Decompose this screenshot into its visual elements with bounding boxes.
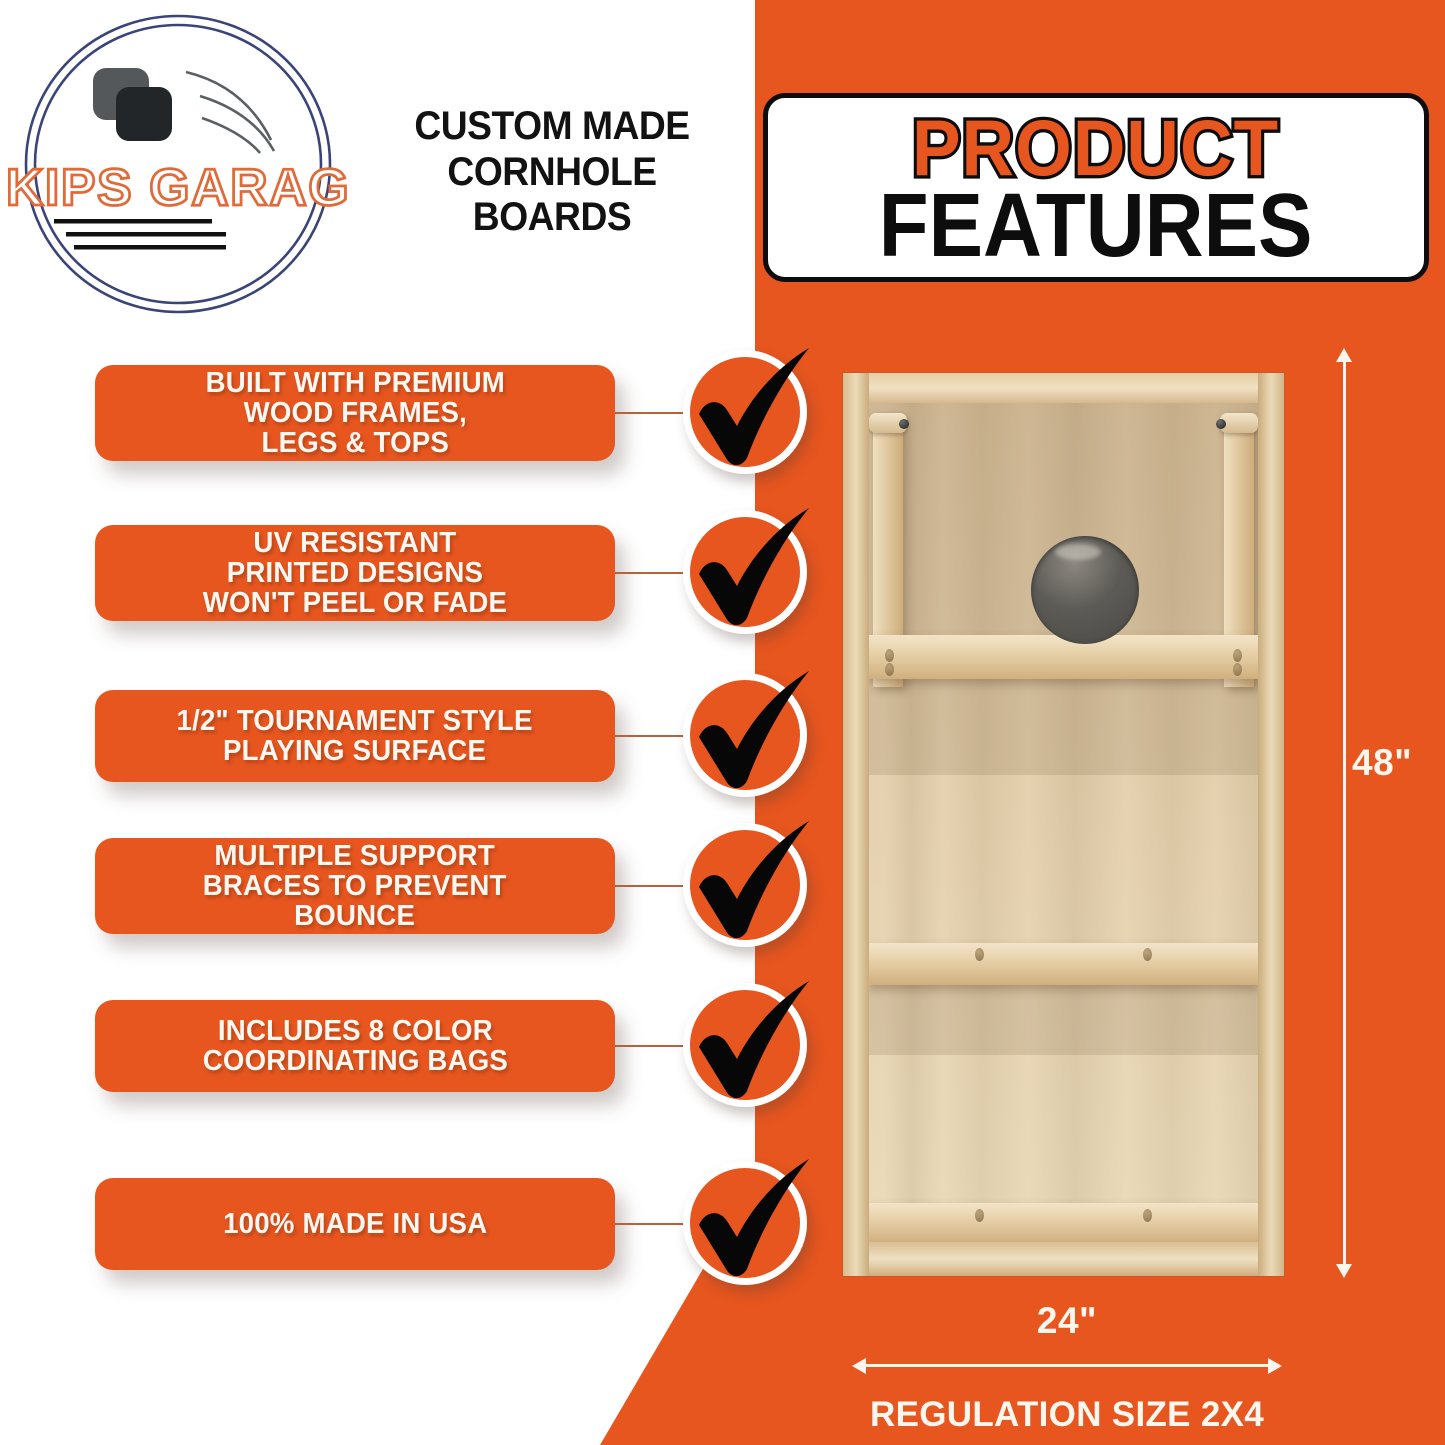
board-hinge-left: [869, 413, 907, 433]
board-rail-left: [843, 373, 869, 1276]
board-screw: [885, 663, 894, 676]
board-shadow-lower: [869, 985, 1258, 1055]
height-dimension-label: 48": [1352, 742, 1412, 784]
feature-pill-5-line-2: COORDINATING BAGS: [202, 1046, 507, 1076]
feature-pill-4-text: MULTIPLE SUPPORT BRACES TO PREVENT BOUNC…: [203, 841, 507, 932]
feature-pill-3-line-2: PLAYING SURFACE: [177, 736, 533, 766]
feature-check-1: [683, 350, 807, 474]
feature-check-4: [683, 823, 807, 947]
feature-row-4: MULTIPLE SUPPORT BRACES TO PREVENT BOUNC…: [0, 838, 760, 988]
board-hinge-right: [1220, 413, 1258, 433]
feature-row-3: 1/2" TOURNAMENT STYLE PLAYING SURFACE: [0, 690, 760, 840]
board-screw: [975, 1209, 984, 1222]
board-bolt-left: [899, 419, 909, 429]
feature-pill-3[interactable]: 1/2" TOURNAMENT STYLE PLAYING SURFACE: [95, 690, 615, 782]
feature-pill-4-line-3: BOUNCE: [203, 901, 507, 931]
check-icon: [675, 496, 825, 646]
feature-row-2: UV RESISTANT PRINTED DESIGNS WON'T PEEL …: [0, 525, 760, 675]
feature-pill-6-line-1: 100% MADE IN USA: [223, 1209, 487, 1239]
feature-check-3: [683, 673, 807, 797]
feature-check-2: [683, 510, 807, 634]
board-support-brace-1: [869, 635, 1258, 679]
feature-pill-2-line-3: WON'T PEEL OR FADE: [203, 588, 507, 618]
feature-pill-3-line-1: 1/2" TOURNAMENT STYLE: [177, 706, 533, 736]
arrowhead-right-icon: [1268, 1358, 1282, 1374]
board-support-brace-3: [869, 1203, 1258, 1243]
board-screw: [885, 649, 894, 662]
feature-row-1: BUILT WITH PREMIUM WOOD FRAMES, LEGS & T…: [0, 365, 760, 515]
feature-pill-2-line-2: PRINTED DESIGNS: [203, 558, 507, 588]
arrowhead-down-icon: [1336, 1264, 1352, 1278]
feature-pill-4-line-2: BRACES TO PREVENT: [203, 871, 507, 901]
feature-pill-5[interactable]: INCLUDES 8 COLOR COORDINATING BAGS: [95, 1000, 615, 1092]
board-screw: [1233, 649, 1242, 662]
check-icon: [675, 336, 825, 486]
feature-pill-6[interactable]: 100% MADE IN USA: [95, 1178, 615, 1270]
feature-row-5: INCLUDES 8 COLOR COORDINATING BAGS: [0, 1000, 760, 1150]
board-support-brace-2: [869, 943, 1258, 985]
feature-pill-2-line-1: UV RESISTANT: [203, 528, 507, 558]
feature-pill-4[interactable]: MULTIPLE SUPPORT BRACES TO PREVENT BOUNC…: [95, 838, 615, 934]
board-screw: [1143, 948, 1152, 961]
board-cornhole-hole: [1031, 536, 1139, 644]
width-dimension-label: 24": [852, 1300, 1282, 1342]
cornhole-board-underside-photo: [843, 373, 1284, 1276]
dimension-line-horizontal: [860, 1364, 1274, 1367]
feature-pill-1-text: BUILT WITH PREMIUM WOOD FRAMES, LEGS & T…: [205, 368, 504, 459]
feature-pill-1-line-3: LEGS & TOPS: [205, 428, 504, 458]
feature-row-6: 100% MADE IN USA: [0, 1178, 760, 1328]
feature-list: BUILT WITH PREMIUM WOOD FRAMES, LEGS & T…: [0, 0, 760, 1445]
board-screw: [1233, 663, 1242, 676]
feature-check-6: [683, 1161, 807, 1285]
board-shadow-mid: [869, 679, 1258, 775]
feature-check-5: [683, 983, 807, 1107]
check-icon: [675, 809, 825, 959]
check-icon: [675, 659, 825, 809]
board-screw: [975, 948, 984, 961]
feature-pill-4-line-1: MULTIPLE SUPPORT: [203, 841, 507, 871]
regulation-size-note: REGULATION SIZE 2X4: [832, 1395, 1302, 1435]
feature-pill-5-line-1: INCLUDES 8 COLOR: [202, 1016, 507, 1046]
board-rail-bottom: [843, 1242, 1284, 1276]
board-bolt-right: [1216, 419, 1226, 429]
feature-pill-5-text: INCLUDES 8 COLOR COORDINATING BAGS: [202, 1016, 507, 1076]
feature-pill-2-text: UV RESISTANT PRINTED DESIGNS WON'T PEEL …: [203, 528, 507, 619]
width-dimension-arrow: [852, 1355, 1282, 1377]
feature-pill-1-line-1: BUILT WITH PREMIUM: [205, 368, 504, 398]
feature-pill-3-text: 1/2" TOURNAMENT STYLE PLAYING SURFACE: [177, 706, 533, 766]
board-rail-top: [843, 373, 1284, 403]
product-features-header: PRODUCT FEATURES: [763, 93, 1429, 282]
check-icon: [675, 969, 825, 1119]
board-hole-gloss: [1055, 544, 1101, 560]
height-dimension-arrow: [1332, 348, 1356, 1278]
dimension-line-vertical: [1343, 356, 1346, 1270]
infographic-page: SKIPS GARAGE CUSTOM MADE CORNHOLE BOARDS…: [0, 0, 1445, 1445]
product-features-line-2: FEATURES: [879, 184, 1313, 270]
board-rail-right: [1258, 373, 1284, 1276]
feature-pill-6-text: 100% MADE IN USA: [223, 1209, 487, 1239]
feature-pill-2[interactable]: UV RESISTANT PRINTED DESIGNS WON'T PEEL …: [95, 525, 615, 621]
check-icon: [675, 1147, 825, 1297]
feature-pill-1-line-2: WOOD FRAMES,: [205, 398, 504, 428]
board-screw: [1143, 1209, 1152, 1222]
feature-pill-1[interactable]: BUILT WITH PREMIUM WOOD FRAMES, LEGS & T…: [95, 365, 615, 461]
